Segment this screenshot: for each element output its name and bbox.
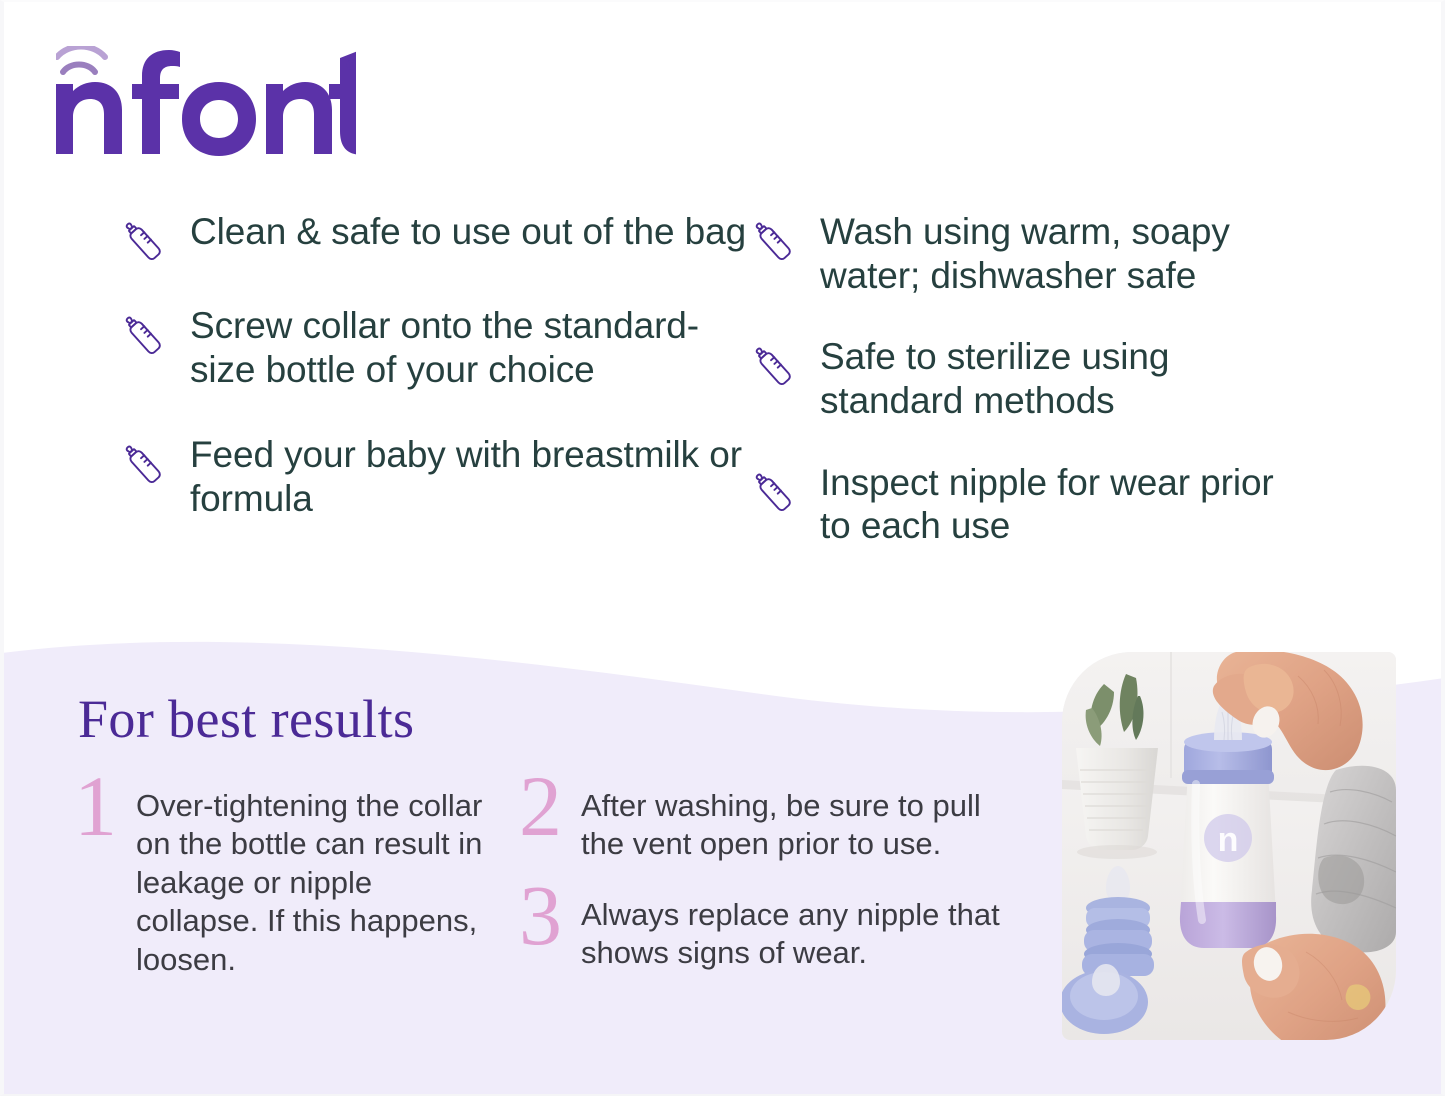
best-results-item: 3 Always replace any nipple that shows s… [519,886,1019,973]
feature-text: Safe to sterilize using standard methods [820,335,1312,422]
feature-item: Safe to sterilize using standard methods [752,335,1312,422]
best-results-item: 2 After washing, be sure to pull the ven… [519,777,1019,864]
feature-item: Inspect nipple for wear prior to each us… [752,461,1312,548]
best-results-number: 3 [519,880,581,951]
feature-text: Wash using warm, soapy water; dishwasher… [820,210,1312,297]
feature-column-right: Wash using warm, soapy water; dishwasher… [752,210,1312,586]
baby-bottle-icon [752,341,798,387]
product-photo: n [1062,652,1396,1040]
best-results-text: Always replace any nipple that shows sig… [581,886,1019,973]
best-results-column-1: 1 Over-tightening the collar on the bott… [74,777,494,979]
feature-column-left: Clean & safe to use out of the bag [122,210,762,563]
best-results-text: After washing, be sure to pull the vent … [581,777,1019,864]
best-results-number: 2 [519,771,581,842]
feature-text: Feed your baby with breastmilk or formul… [190,433,762,520]
baby-bottle-icon [122,439,168,485]
nfant-logo: ® [56,46,356,156]
best-results-heading: For best results [78,688,414,750]
feature-text: Inspect nipple for wear prior to each us… [820,461,1312,548]
product-instruction-card: ® Clean [0,0,1445,1096]
best-results-number: 1 [74,771,136,842]
baby-bottle-icon [122,310,168,356]
feature-item: Wash using warm, soapy water; dishwasher… [752,210,1312,297]
feature-text: Clean & safe to use out of the bag [190,210,746,254]
baby-bottle-icon [752,467,798,513]
feature-item: Screw collar onto the standard-size bott… [122,304,762,391]
best-results-text: Over-tightening the collar on the bottle… [136,777,494,979]
bottle-logo-letter: n [1218,821,1239,859]
baby-bottle-icon [752,216,798,262]
feature-text: Screw collar onto the standard-size bott… [190,304,762,391]
best-results-column-2: 2 After washing, be sure to pull the ven… [519,777,1019,973]
baby-bottle-icon [122,216,168,262]
feature-item: Feed your baby with breastmilk or formul… [122,433,762,520]
feature-item: Clean & safe to use out of the bag [122,210,762,262]
best-results-item: 1 Over-tightening the collar on the bott… [74,777,494,979]
registered-trademark-glyph: ® [346,57,356,74]
feature-lists: Clean & safe to use out of the bag [4,210,1441,586]
